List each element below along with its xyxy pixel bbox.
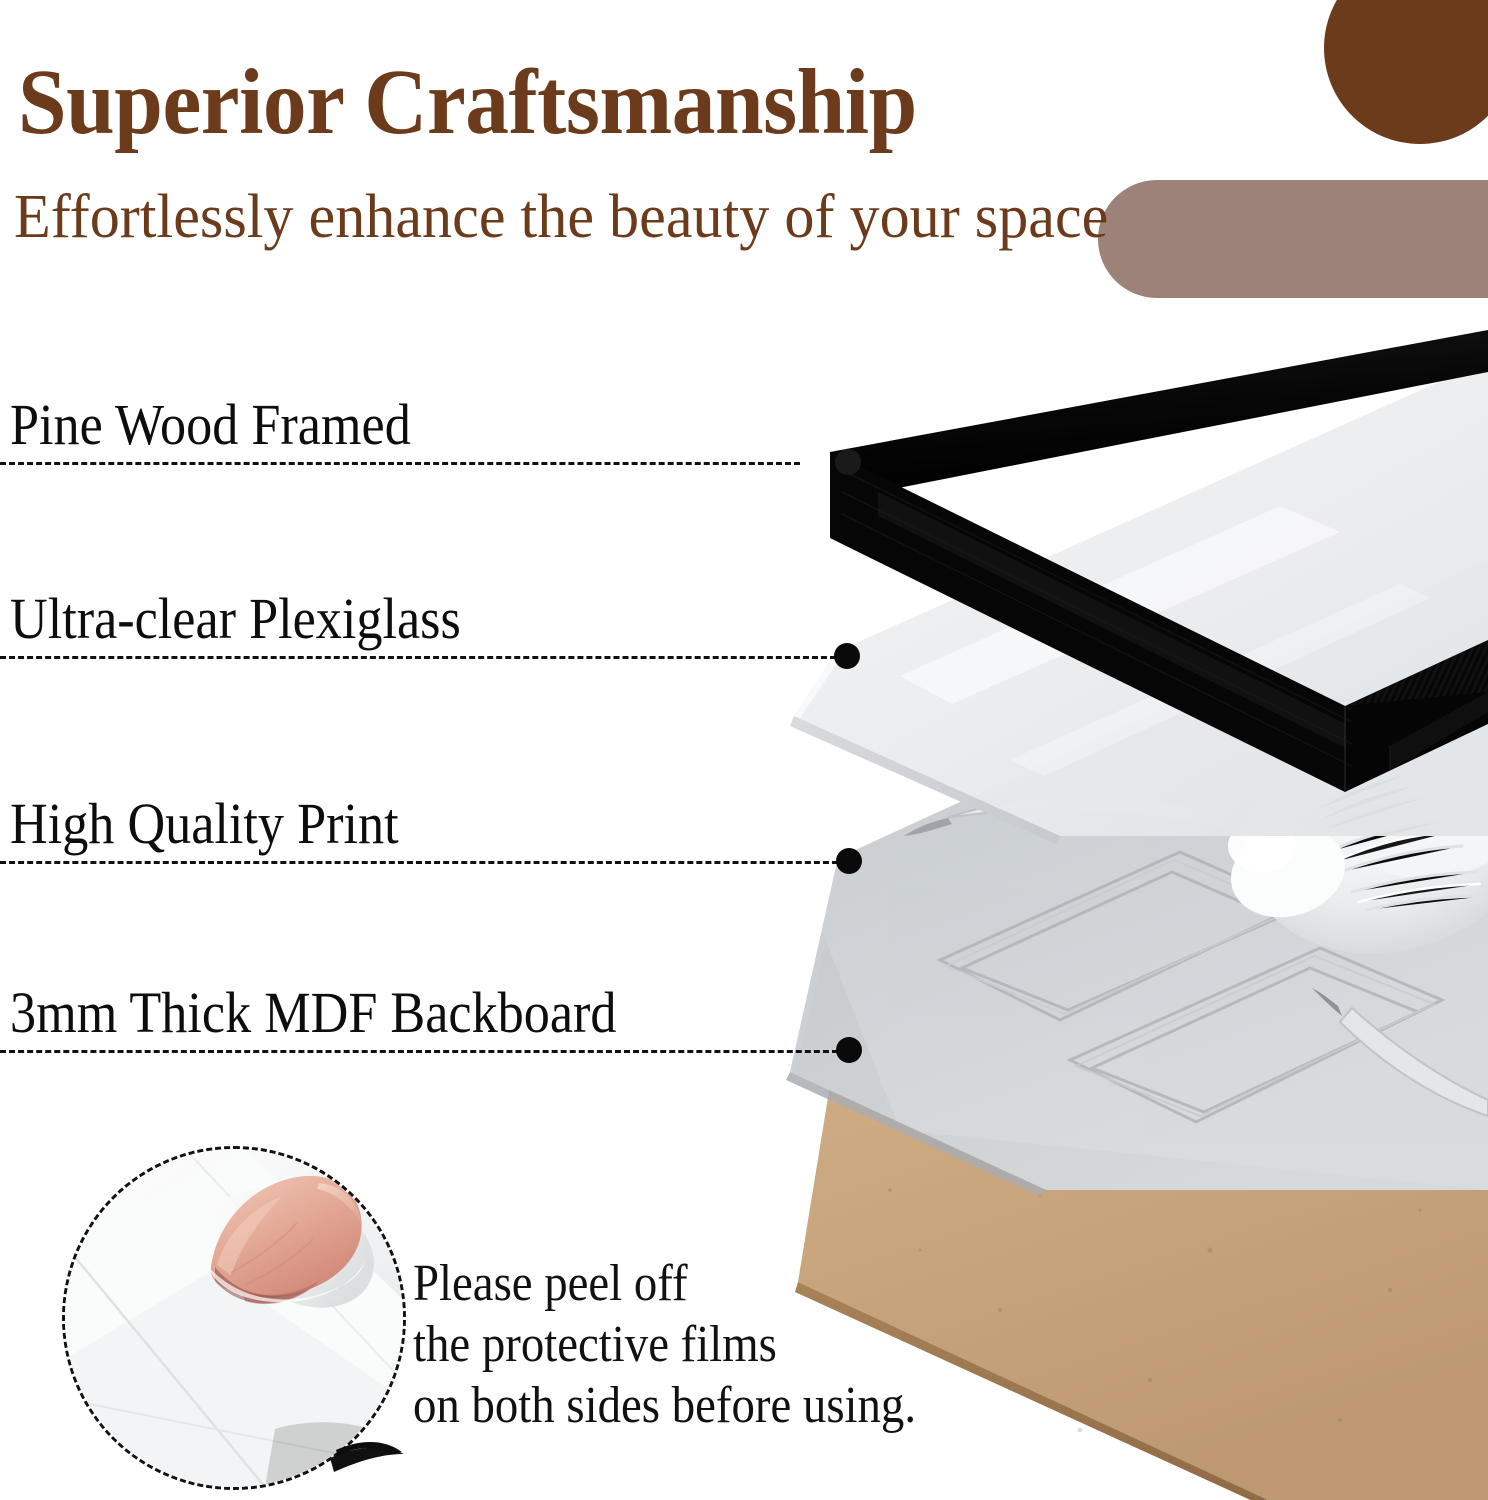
pine-wood-frame-layer: [830, 330, 1488, 792]
leader-line-ultra-clear-plexiglass: [0, 656, 836, 659]
callout-label-pine-wood-framed: Pine Wood Framed: [10, 396, 411, 454]
peel-off-note: Please peel off the protective films on …: [413, 1254, 916, 1436]
leader-dot-high-quality-print: [836, 848, 862, 874]
callout-label-high-quality-print: High Quality Print: [10, 795, 399, 853]
callout-pine-wood-framed: Pine Wood Framed: [0, 380, 900, 464]
callout-high-quality-print: High Quality Print: [0, 779, 900, 863]
callout-label-mdf-backboard: 3mm Thick MDF Backboard: [10, 984, 617, 1042]
leader-line-high-quality-print: [0, 861, 838, 864]
page-title: Superior Craftsmanship: [18, 56, 1240, 149]
leader-line-mdf-backboard: [0, 1050, 838, 1053]
callout-ultra-clear-plexiglass: Ultra-clear Plexiglass: [0, 574, 900, 658]
infographic-root: Superior Craftsmanship Effortlessly enha…: [0, 0, 1488, 1500]
subtitle-highlight-text: your space: [850, 183, 1109, 251]
leader-dot-pine-wood-framed: [835, 449, 861, 475]
leader-line-pine-wood-framed: [0, 462, 800, 465]
subtitle-spacer: [834, 183, 849, 251]
peel-note-line-2: the protective films: [413, 1315, 916, 1376]
corner-circle-decoration: [1324, 0, 1488, 144]
subtitle-plain-text: Effortlessly enhance the beauty of: [14, 183, 834, 251]
peel-note-line-3: on both sides before using.: [413, 1376, 916, 1437]
callout-label-ultra-clear-plexiglass: Ultra-clear Plexiglass: [10, 590, 461, 648]
leader-dot-mdf-backboard: [836, 1037, 862, 1063]
peel-note-line-1: Please peel off: [413, 1254, 916, 1315]
page-subtitle: Effortlessly enhance the beauty of your …: [14, 186, 1450, 248]
callout-mdf-backboard: 3mm Thick MDF Backboard: [0, 968, 900, 1052]
leader-dot-ultra-clear-plexiglass: [834, 643, 860, 669]
